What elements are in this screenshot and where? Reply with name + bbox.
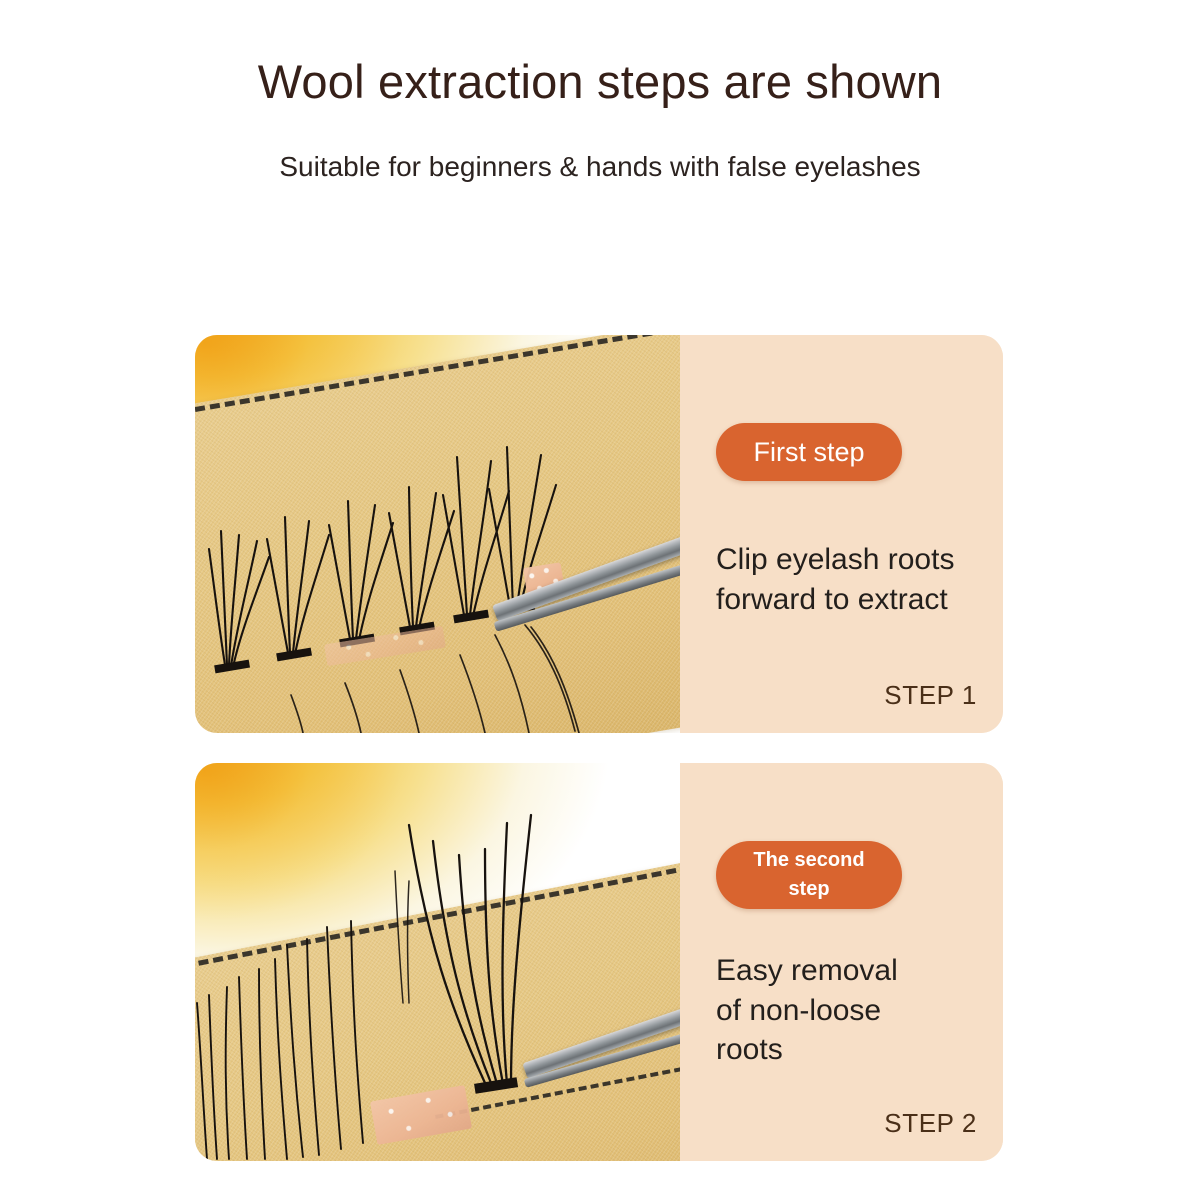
step-2-pill-line-1: The second <box>753 846 864 875</box>
step-2-photo <box>195 763 680 1161</box>
step-1-photo <box>195 335 680 733</box>
step-2-number: STEP 2 <box>884 1108 977 1139</box>
page-title: Wool extraction steps are shown <box>0 0 1200 105</box>
step-1-pill-line-1: First step <box>753 437 864 468</box>
page-subtitle: Suitable for beginners & hands with fals… <box>0 105 1200 181</box>
step-2-description: Easy removal of non-loose roots <box>716 951 898 1070</box>
step-2-pill-line-2: step <box>788 875 829 904</box>
step-1-number: STEP 1 <box>884 680 977 711</box>
step-2-panel: The second step Easy removal of non-loos… <box>680 763 1003 1161</box>
step-card-1: First step Clip eyelash roots forward to… <box>195 335 1003 733</box>
step-2-pill: The second step <box>716 841 902 909</box>
page-header: Wool extraction steps are shown Suitable… <box>0 0 1200 181</box>
step-1-description: Clip eyelash roots forward to extract <box>716 540 954 619</box>
step-1-panel: First step Clip eyelash roots forward to… <box>680 335 1003 733</box>
step-1-pill: First step <box>716 423 902 481</box>
eyelash-clusters-illustration <box>195 335 680 733</box>
step-card-2: The second step Easy removal of non-loos… <box>195 763 1003 1161</box>
